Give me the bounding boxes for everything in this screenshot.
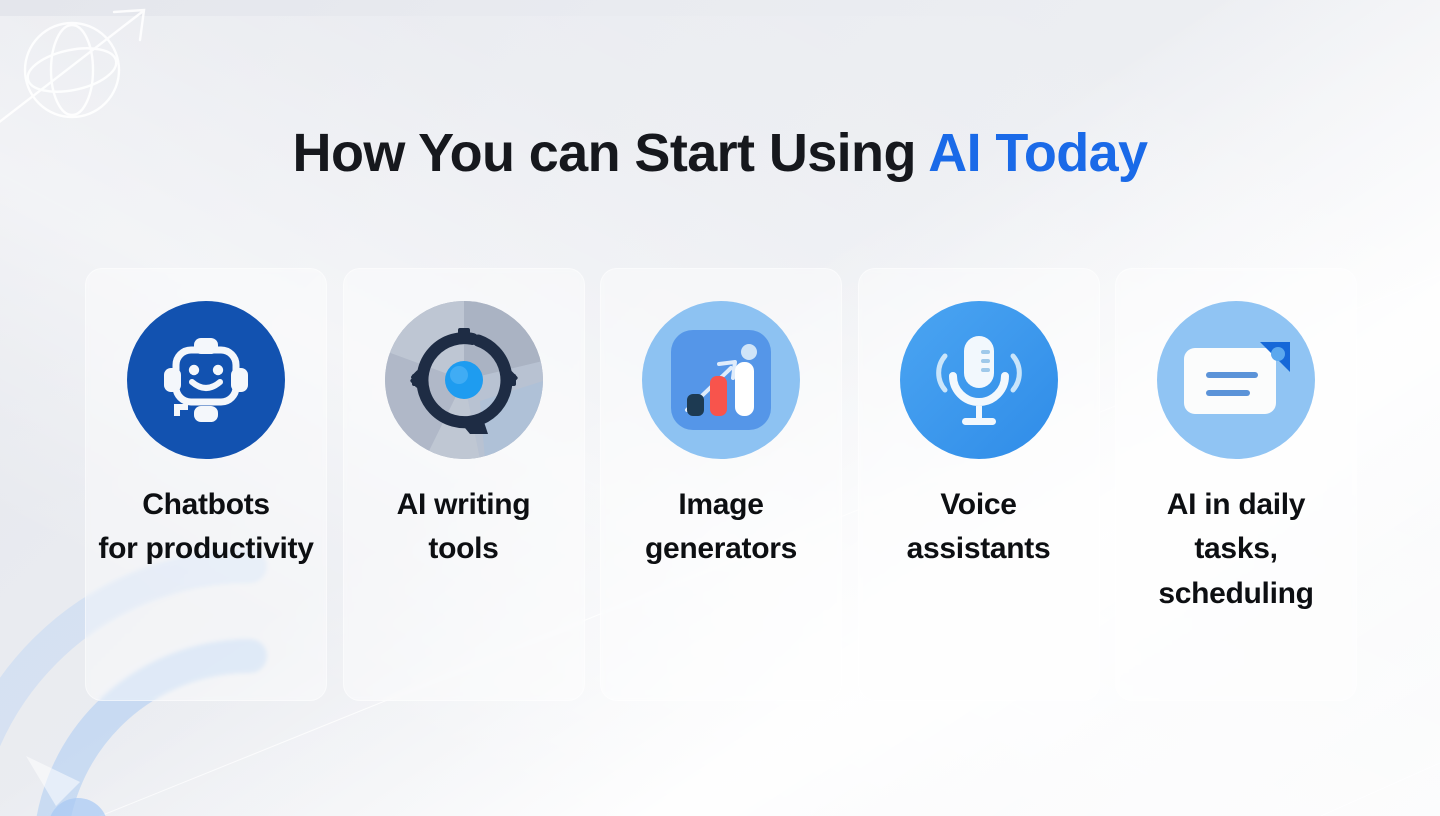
feature-card-label: AI writingtools: [352, 483, 576, 572]
microphone-icon-circle: [900, 301, 1058, 459]
feature-card-label: Chatbotsfor productivity: [94, 483, 318, 572]
slide-root: How You can Start Using AI Today: [0, 0, 1440, 816]
feature-card-voice-assistants[interactable]: Voiceassistants: [858, 268, 1100, 701]
image-generator-icon-circle: [642, 301, 800, 459]
feature-card-chatbots[interactable]: Chatbotsfor productivity: [85, 268, 327, 701]
page-title: How You can Start Using AI Today: [0, 124, 1440, 183]
chatbot-robot-icon: [150, 324, 262, 436]
feature-card-label: Imagegenerators: [609, 483, 833, 572]
page-title-accent: AI Today: [928, 123, 1147, 183]
feature-card-label: Voiceassistants: [867, 483, 1091, 572]
feature-card-ai-daily-tasks[interactable]: AI in dailytasks,scheduling: [1115, 268, 1357, 701]
gear-cog-icon: [385, 301, 543, 459]
microphone-icon: [923, 324, 1035, 436]
chatbot-icon-circle: [127, 301, 285, 459]
bar-chart-growth-icon: [669, 328, 773, 432]
feature-card-label: AI in dailytasks,scheduling: [1124, 483, 1348, 616]
document-icon-circle: [1157, 301, 1315, 459]
feature-card-ai-writing-tools[interactable]: AI writingtools: [343, 268, 585, 701]
gear-icon-circle: [385, 301, 543, 459]
feature-card-row: Chatbotsfor productivity: [85, 268, 1357, 701]
document-note-icon: [1178, 328, 1294, 432]
page-title-lead: How You can Start Using: [293, 123, 929, 183]
feature-card-image-generators[interactable]: Imagegenerators: [600, 268, 842, 701]
